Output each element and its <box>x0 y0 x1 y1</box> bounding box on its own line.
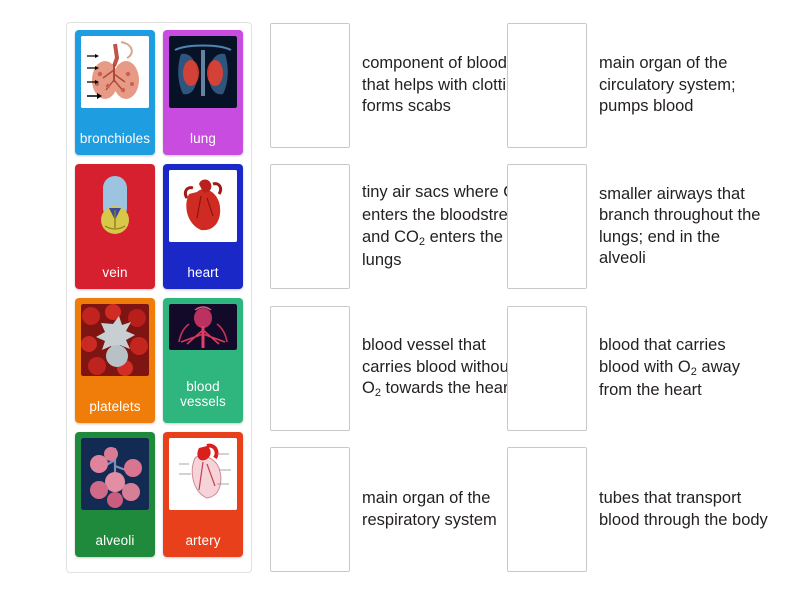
blood-vessels-body-icon <box>169 304 237 350</box>
definition-pair: main organ of the respiratory system <box>270 447 535 574</box>
tile-label: heart <box>167 265 239 280</box>
activity-stage: bronchioles lung <box>0 0 800 600</box>
definition-pair: main organ of the circulatory system; pu… <box>507 22 772 149</box>
definition-pair: tiny air sacs where O2 enters the bloods… <box>270 164 535 291</box>
heart-anatomy-icon <box>169 170 237 242</box>
dropzone-alveoli[interactable] <box>270 164 350 289</box>
definition-pair: blood that carries blood with O2 away fr… <box>507 305 772 432</box>
dropzone-bronchioles[interactable] <box>507 164 587 289</box>
dropzone-artery[interactable] <box>507 306 587 431</box>
dropzone-vein[interactable] <box>270 306 350 431</box>
definition-column-left: component of blood that helps with clott… <box>270 22 535 573</box>
alveoli-cluster-icon <box>81 438 149 510</box>
platelets-micrograph-icon <box>81 304 149 376</box>
definition-pair: tubes that transport blood through the b… <box>507 447 772 574</box>
tile-platelets[interactable]: platelets <box>75 298 155 423</box>
tile-label: vein <box>79 265 151 280</box>
tile-label: artery <box>167 533 239 548</box>
definition-column-right: main organ of the circulatory system; pu… <box>507 22 772 573</box>
tile-bronchioles[interactable]: bronchioles <box>75 30 155 155</box>
tile-label: alveoli <box>79 533 151 548</box>
dropzone-blood-vessels[interactable] <box>507 447 587 572</box>
tile-alveoli[interactable]: alveoli <box>75 432 155 557</box>
dropzone-lung[interactable] <box>270 447 350 572</box>
dropzone-heart[interactable] <box>507 23 587 148</box>
definition-text: tubes that transport blood through the b… <box>599 488 769 531</box>
dropzone-platelets[interactable] <box>270 23 350 148</box>
tile-label: platelets <box>79 399 151 414</box>
definition-text: smaller airways that branch throughout t… <box>599 184 769 270</box>
tile-label: bronchioles <box>79 131 151 146</box>
bronchioles-diagram-icon <box>81 36 149 108</box>
vein-cross-section-icon <box>81 170 149 242</box>
tile-artery[interactable]: artery <box>163 432 243 557</box>
tile-vein[interactable]: vein <box>75 164 155 289</box>
artery-heart-diagram-icon <box>169 438 237 510</box>
tile-blood-vessels[interactable]: blood vessels <box>163 298 243 423</box>
definition-text: main organ of the circulatory system; pu… <box>599 53 769 118</box>
definition-pair: component of blood that helps with clott… <box>270 22 535 149</box>
tile-panel: bronchioles lung <box>66 22 252 573</box>
tile-heart[interactable]: heart <box>163 164 243 289</box>
tile-label: lung <box>167 131 239 146</box>
lung-xray-icon <box>169 36 237 108</box>
tile-label: blood vessels <box>167 379 239 409</box>
definition-pair: blood vessel that carries blood without … <box>270 305 535 432</box>
definition-text: blood that carries blood with O2 away fr… <box>599 335 769 402</box>
tile-lung[interactable]: lung <box>163 30 243 155</box>
definition-pair: smaller airways that branch throughout t… <box>507 164 772 291</box>
